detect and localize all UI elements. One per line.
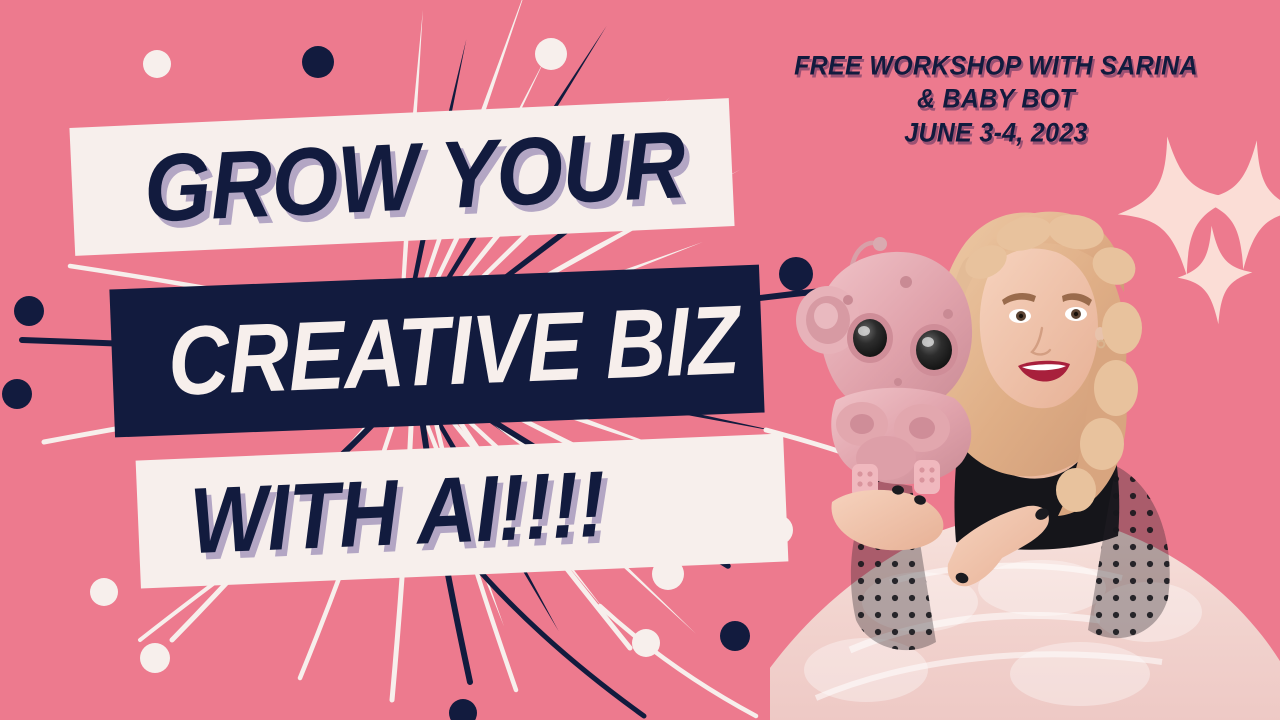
event-info: FREE WORKSHOP WITH SARINA & BABY BOT JUN… — [746, 50, 1246, 150]
headline-block-with-ai: WITH AI!!!! — [136, 433, 789, 588]
robot-antenna-tip — [873, 237, 887, 251]
headline-text-line-3: WITH AI!!!! — [188, 451, 607, 575]
headline-text-line-2: CREATIVE BIZ — [166, 283, 741, 417]
event-info-line-2: & BABY BOT — [746, 82, 1246, 117]
presenter-photo — [770, 150, 1280, 720]
baby-bot-robot — [796, 237, 972, 498]
headline-block-creative-biz: CREATIVE BIZ — [109, 265, 764, 438]
event-info-line-3: JUNE 3-4, 2023 — [746, 116, 1246, 151]
headline-text-line-1: GROW YOUR — [142, 109, 688, 244]
event-info-line-1: FREE WORKSHOP WITH SARINA — [746, 49, 1246, 84]
supporting-hand — [831, 485, 943, 550]
promo-banner: FREE WORKSHOP WITH SARINA & BABY BOT JUN… — [0, 0, 1280, 720]
